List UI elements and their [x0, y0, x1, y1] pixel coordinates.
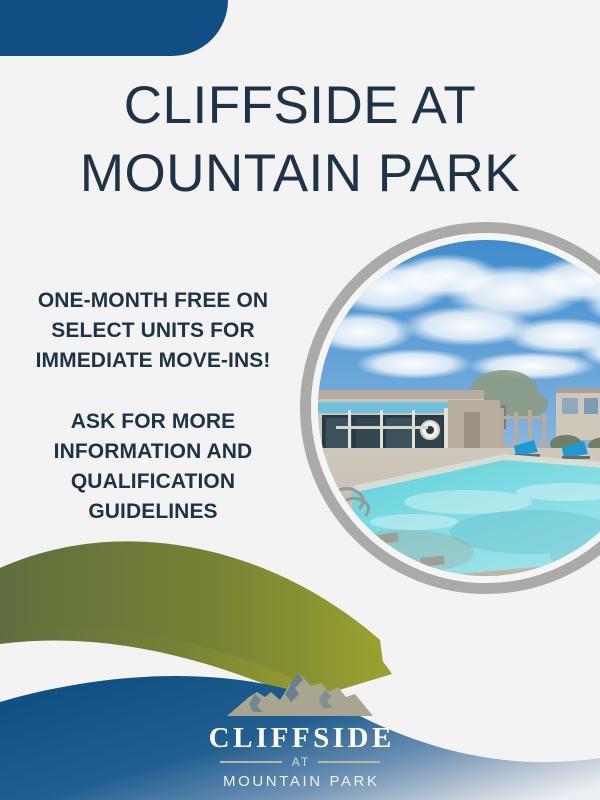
flyer-canvas: CLIFFSIDE AT MOUNTAIN PARK ONE-MONTH FRE… — [0, 0, 600, 800]
brand-logo: CLIFFSIDE AT MOUNTAIN PARK — [0, 670, 600, 792]
decorative-blue-corner — [0, 0, 228, 56]
promo-copy: ONE-MONTH FREE ON SELECT UNITS FOR IMMED… — [8, 286, 298, 527]
logo-subtitle: MOUNTAIN PARK — [0, 772, 600, 792]
promo-offer-text: ONE-MONTH FREE ON SELECT UNITS FOR IMMED… — [8, 286, 298, 376]
page-title: CLIFFSIDE AT MOUNTAIN PARK — [0, 72, 600, 208]
mountain-icon — [225, 670, 375, 720]
logo-connector-row: AT — [0, 755, 600, 769]
promo-cta-text: ASK FOR MORE INFORMATION AND QUALIFICATI… — [8, 407, 298, 527]
logo-rule-right — [318, 761, 380, 763]
logo-rule-left — [220, 761, 282, 763]
logo-connector: AT — [290, 755, 310, 769]
logo-wordmark: CLIFFSIDE — [0, 722, 600, 754]
